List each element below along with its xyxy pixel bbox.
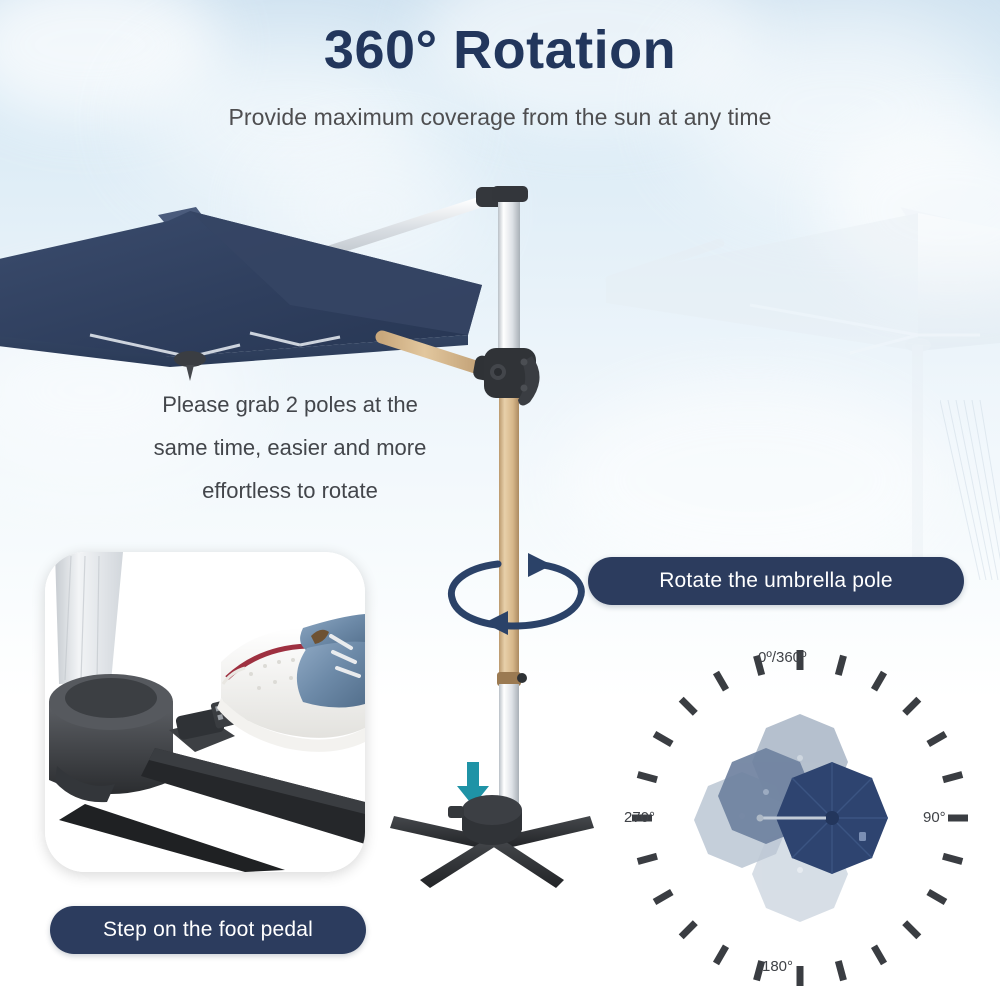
dial-tick: [943, 775, 962, 780]
grab-poles-note: Please grab 2 poles at the same time, ea…: [120, 384, 460, 513]
umbrella-cross-base: [384, 780, 600, 890]
dial-tick: [716, 673, 726, 690]
dial-tick: [638, 856, 657, 861]
dial-tick: [681, 699, 695, 713]
grab-poles-line-2: same time, easier and more: [120, 427, 460, 470]
umbrella-mast-and-hub: [470, 186, 550, 816]
dial-label-0: 0º/360º: [758, 649, 807, 666]
page-title: 360° Rotation: [0, 22, 1000, 79]
product-feature-image: 360° Rotation Provide maximum coverage f…: [0, 0, 1000, 1000]
dial-tick: [638, 775, 657, 780]
dial-tick: [874, 673, 884, 690]
dial-label-90: 90°: [923, 809, 946, 826]
dial-tick: [757, 961, 762, 980]
grab-poles-line-3: effortless to rotate: [120, 470, 460, 513]
dial-tick: [838, 961, 843, 980]
dial-tick: [928, 734, 945, 744]
dial-tick: [681, 923, 695, 937]
navy-cantilever-umbrella: [0, 185, 550, 415]
dial-label-270: 270°: [624, 809, 655, 826]
dial-tick: [905, 699, 919, 713]
dial-tick: [655, 734, 672, 744]
foot-pedal-inset-photo[interactable]: [45, 552, 365, 872]
page-subtitle: Provide maximum coverage from the sun at…: [0, 104, 1000, 131]
dial-tick: [943, 856, 962, 861]
dial-tick: [905, 923, 919, 937]
dial-tick: [655, 892, 672, 902]
dial-tick: [874, 946, 884, 963]
rotation-arrow-icon: [440, 540, 600, 640]
guy-wire-lines: [940, 400, 1000, 580]
dial-tick: [716, 946, 726, 963]
rotation-degree-dial: 0º/360º 90° 180° 270°: [620, 640, 980, 990]
grab-poles-line-1: Please grab 2 poles at the: [120, 384, 460, 427]
badge-step-on-foot-pedal[interactable]: Step on the foot pedal: [50, 906, 366, 954]
dial-label-180: 180°: [762, 958, 793, 975]
dial-tick: [928, 892, 945, 902]
dial-tick: [838, 656, 843, 675]
badge-rotate-umbrella-pole[interactable]: Rotate the umbrella pole: [588, 557, 964, 605]
